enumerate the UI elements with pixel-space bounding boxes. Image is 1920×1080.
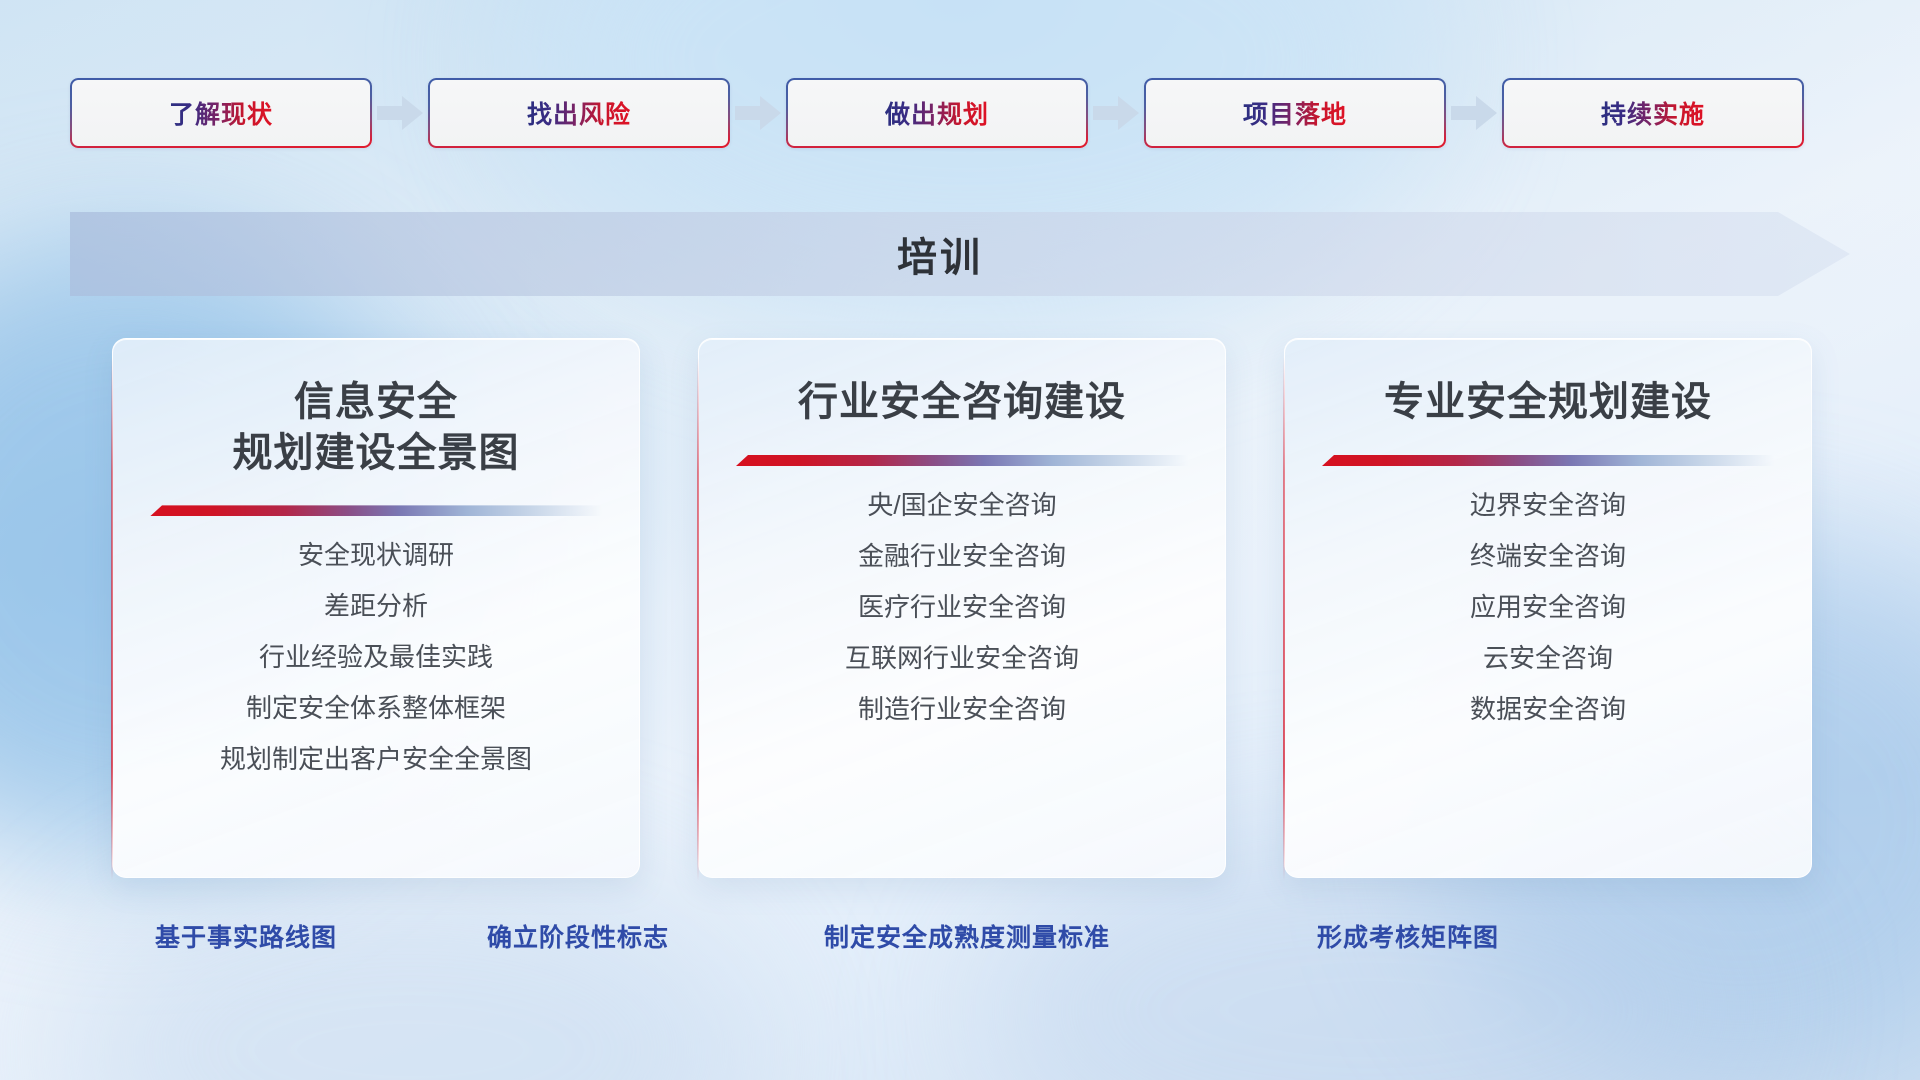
list-item: 规划制定出客户安全全景图 [143,746,609,772]
list-item: 安全现状调研 [143,542,609,568]
card-2[interactable]: 行业安全咨询建设 央/国企安全咨询 金融行业安全咨询 医疗行业安全咨询 互联网行… [698,338,1226,878]
card-3-divider [1322,455,1774,466]
card-3-title-line-1: 专业安全规划建设 [1384,377,1712,428]
step-chip-3[interactable]: 做出规划 [786,78,1088,148]
step-arrow-icon-2 [730,78,786,148]
step-chip-1[interactable]: 了解现状 [70,78,372,148]
step-arrow-icon-1 [372,78,428,148]
step-label-1: 了解现状 [169,95,273,131]
card-3-title: 专业安全规划建设 [1384,377,1712,429]
card-1-divider [150,505,602,516]
list-item: 互联网行业安全咨询 [729,645,1195,671]
step-label-2: 找出风险 [527,95,631,131]
step-chip-4[interactable]: 项目落地 [1144,78,1446,148]
card-3[interactable]: 专业安全规划建设 边界安全咨询 终端安全咨询 应用安全咨询 云安全咨询 数据安全… [1284,338,1812,878]
card-1[interactable]: 信息安全 规划建设全景图 安全现状调研 差距分析 行业经验及最佳实践 制定安全体… [112,338,640,878]
training-banner: 培训 [70,212,1850,296]
card-1-title: 信息安全 规划建设全景图 [233,377,520,479]
step-arrow-icon-3 [1088,78,1144,148]
card-1-title-line-2: 规划建设全景图 [233,428,520,479]
list-item: 行业经验及最佳实践 [143,644,609,670]
background-glow-bottom-left [60,860,760,1080]
card-1-title-line-1: 信息安全 [233,377,520,428]
list-item: 央/国企安全咨询 [729,492,1195,518]
card-2-title-line-1: 行业安全咨询建设 [798,377,1126,428]
list-item: 医疗行业安全咨询 [729,594,1195,620]
card-1-list: 安全现状调研 差距分析 行业经验及最佳实践 制定安全体系整体框架 规划制定出客户… [143,542,609,772]
list-item: 应用安全咨询 [1315,594,1781,620]
list-item: 边界安全咨询 [1315,492,1781,518]
caption-2: 确立阶段性标志 [487,918,669,954]
list-item: 数据安全咨询 [1315,696,1781,722]
caption-4: 形成考核矩阵图 [1317,918,1499,954]
cards-row: 信息安全 规划建设全景图 安全现状调研 差距分析 行业经验及最佳实践 制定安全体… [112,338,1812,878]
list-item: 金融行业安全咨询 [729,543,1195,569]
captions-row: 基于事实路线图 确立阶段性标志 制定安全成熟度测量标准 形成考核矩阵图 [0,918,1920,962]
list-item: 制定安全体系整体框架 [143,695,609,721]
list-item: 差距分析 [143,593,609,619]
card-2-title: 行业安全咨询建设 [798,377,1126,429]
card-2-list: 央/国企安全咨询 金融行业安全咨询 医疗行业安全咨询 互联网行业安全咨询 制造行… [729,492,1195,722]
step-label-4: 项目落地 [1243,95,1347,131]
process-steps-row: 了解现状 找出风险 做出规划 项目落地 [70,78,1850,148]
step-chip-5[interactable]: 持续实施 [1502,78,1804,148]
card-3-list: 边界安全咨询 终端安全咨询 应用安全咨询 云安全咨询 数据安全咨询 [1315,492,1781,722]
list-item: 终端安全咨询 [1315,543,1781,569]
step-label-3: 做出规划 [885,95,989,131]
step-chip-2[interactable]: 找出风险 [428,78,730,148]
caption-1: 基于事实路线图 [155,918,337,954]
step-arrow-icon-4 [1446,78,1502,148]
card-2-divider [736,455,1188,466]
step-label-5: 持续实施 [1601,95,1705,131]
list-item: 制造行业安全咨询 [729,696,1195,722]
banner-label: 培训 [70,212,1850,296]
caption-3: 制定安全成熟度测量标准 [824,918,1110,954]
slide-canvas: 了解现状 找出风险 做出规划 项目落地 [0,0,1920,1080]
list-item: 云安全咨询 [1315,645,1781,671]
